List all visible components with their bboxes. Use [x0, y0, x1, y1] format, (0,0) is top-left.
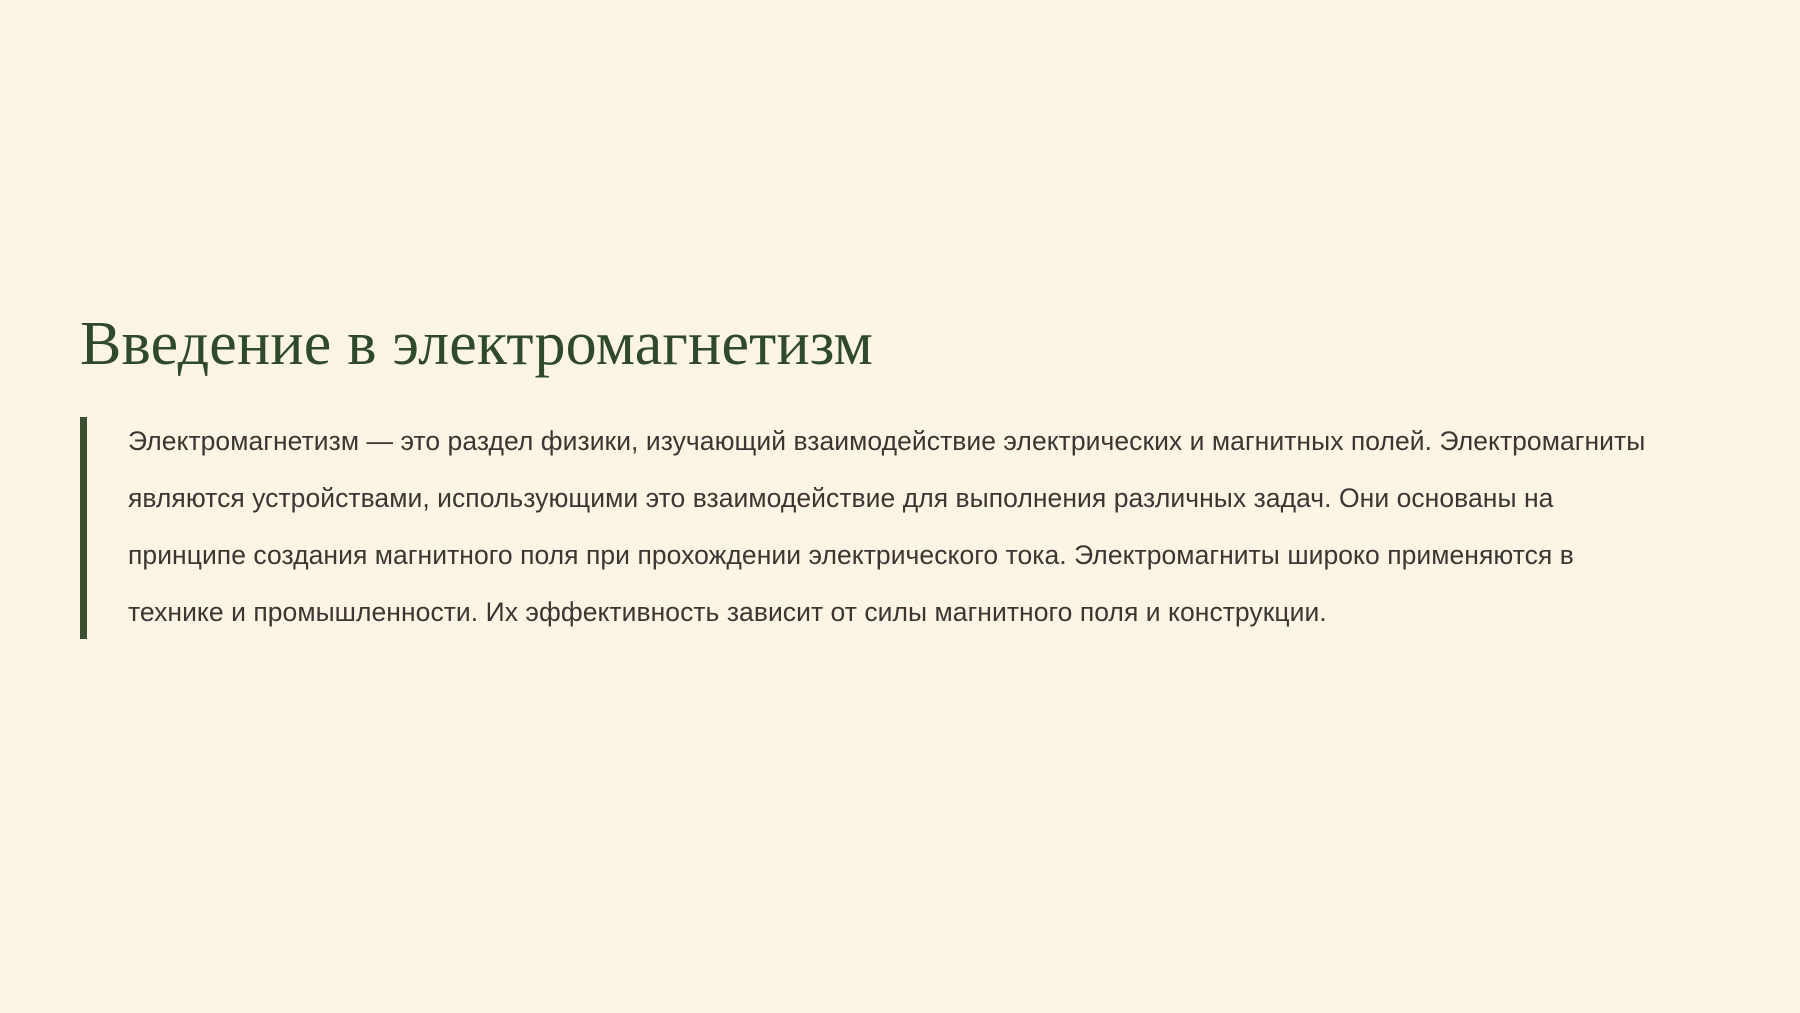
- body-paragraph: Электромагнетизм — это раздел физики, из…: [128, 413, 1660, 641]
- accent-bar: [80, 417, 87, 639]
- body-quote-block: Электромагнетизм — это раздел физики, из…: [80, 413, 1660, 641]
- slide-content-block: Введение в электромагнетизм Электромагне…: [80, 310, 1660, 641]
- slide-canvas: Введение в электромагнетизм Электромагне…: [0, 0, 1800, 1013]
- page-title: Введение в электромагнетизм: [80, 310, 1660, 379]
